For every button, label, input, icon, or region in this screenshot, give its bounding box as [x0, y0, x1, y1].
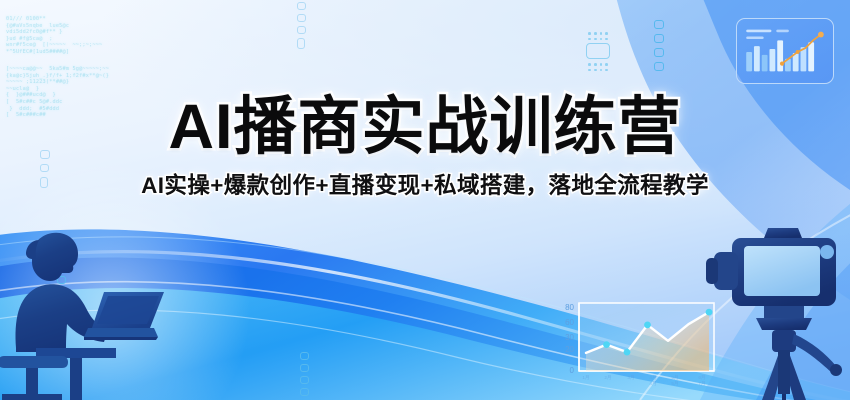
decor-square: [300, 352, 309, 360]
svg-text:1月: 1月: [582, 375, 589, 381]
line-chart: 80 60 30 20 0 1月 2月: [552, 299, 720, 395]
svg-text:30: 30: [565, 333, 574, 342]
decor-square: [297, 2, 306, 10]
decor-square: [654, 20, 664, 29]
decor-square: [297, 38, 305, 49]
square-decoration-left: [40, 150, 50, 188]
svg-text:5月: 5月: [671, 381, 678, 387]
bar-chart-icon: [736, 18, 834, 84]
decor-square: [297, 14, 306, 22]
square-decoration-top-right: [654, 20, 664, 71]
svg-text:80: 80: [565, 303, 574, 312]
square-decoration-bottom-middle: [300, 352, 309, 396]
svg-text:7月: 7月: [698, 381, 705, 387]
svg-text:0: 0: [570, 366, 575, 375]
decor-square: [300, 364, 309, 372]
decor-square: [40, 150, 50, 159]
svg-text:2月: 2月: [604, 375, 611, 381]
svg-text:20: 20: [565, 345, 574, 354]
dot-matrix-decoration: [576, 32, 620, 86]
decor-square: [654, 62, 664, 71]
square-decoration-top-middle: [297, 2, 306, 49]
decor-square: [300, 376, 309, 384]
decor-square: [297, 26, 306, 34]
promo-banner: 01/// 0100** {@#aVs5nqbe lue5@c vdi5dd2f…: [0, 0, 850, 400]
x-axis-ticks: 1月 2月 3月 4月 4月 5月 5月 6月 7月: [582, 375, 705, 387]
svg-text:4月: 4月: [649, 381, 656, 387]
svg-text:60: 60: [565, 318, 574, 327]
dot-matrix-box: [586, 43, 610, 59]
decor-square: [654, 48, 664, 57]
decor-square: [300, 388, 309, 396]
y-axis-ticks: 80 60 30 20 0: [565, 303, 574, 375]
decor-square: [40, 177, 48, 188]
person-with-laptop-silhouette: [0, 228, 178, 400]
decor-square: [40, 164, 49, 172]
decor-square: [654, 34, 664, 43]
svg-text:3月: 3月: [627, 375, 634, 381]
